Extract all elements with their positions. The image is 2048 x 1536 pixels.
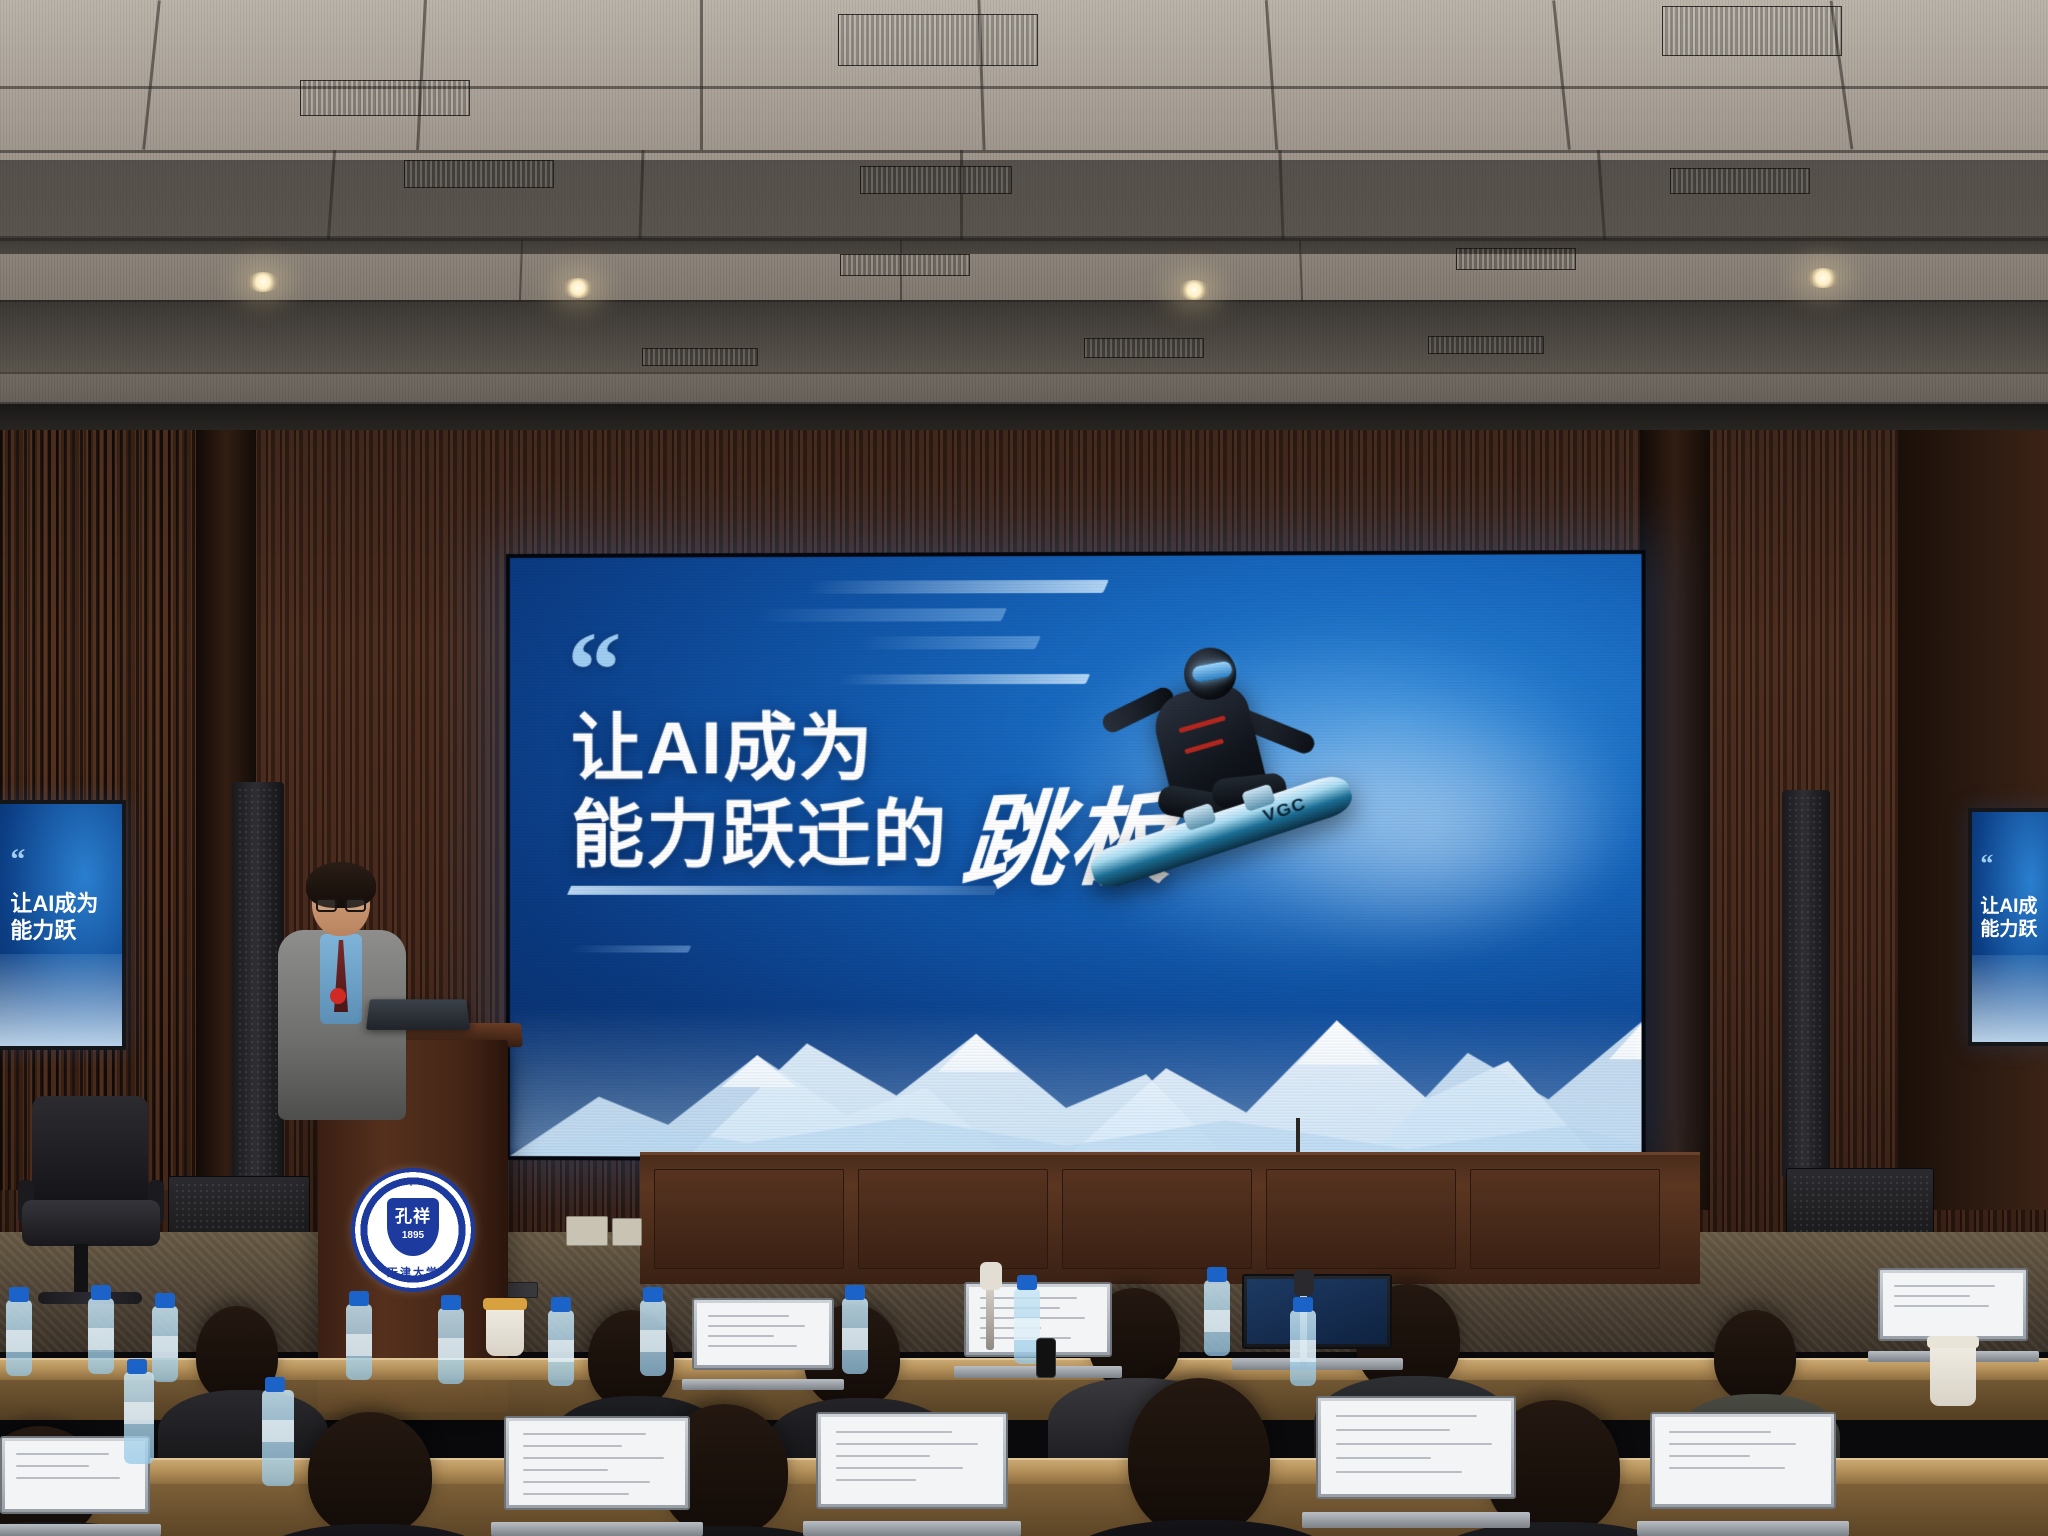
side-line-2: 能力跃 xyxy=(10,918,76,943)
snowboarder-illustration: VGC xyxy=(1066,625,1397,926)
audience-laptop[interactable] xyxy=(504,1416,690,1536)
water-bottle[interactable] xyxy=(640,1300,666,1376)
chair-back xyxy=(32,1096,148,1206)
laptop-screen xyxy=(821,1417,1003,1504)
decor-streak xyxy=(856,636,1041,649)
laptop-base xyxy=(0,1524,161,1536)
bottle-label xyxy=(346,1334,372,1356)
side-monitor-mountains xyxy=(1972,955,2048,1042)
ceiling-vent xyxy=(1428,336,1544,354)
bottle-cap xyxy=(1293,1297,1313,1312)
water-bottle[interactable] xyxy=(346,1304,372,1380)
ceiling-vent xyxy=(840,254,970,276)
bottle-label xyxy=(6,1330,32,1352)
decor-streak xyxy=(752,608,1007,622)
laptop-screen xyxy=(509,1421,685,1505)
water-bottle[interactable] xyxy=(124,1372,154,1464)
side-quote-icon: “ xyxy=(10,843,22,877)
ceiling-vent xyxy=(1456,248,1576,270)
quote-mark-icon: “ xyxy=(567,629,615,711)
laptop-base xyxy=(803,1521,1022,1536)
laptop-screen xyxy=(1321,1401,1511,1494)
audience-head xyxy=(308,1412,432,1536)
bottle-cap xyxy=(1017,1275,1037,1290)
main-led-screen: “ 让AI成为 能力跃迁的跳板 xyxy=(506,550,1646,1164)
bottle-cap xyxy=(91,1285,111,1300)
water-bottle[interactable] xyxy=(1290,1310,1316,1386)
presenter-badge xyxy=(330,988,346,1004)
audience-laptop[interactable] xyxy=(692,1298,834,1390)
laptop-base xyxy=(682,1379,844,1390)
bottle-cap xyxy=(9,1287,29,1302)
downlight xyxy=(246,272,280,292)
cup-lid xyxy=(1927,1336,1979,1348)
ceiling-vent xyxy=(1670,168,1810,194)
laptop-lid xyxy=(692,1298,834,1370)
decor-streak xyxy=(804,580,1109,594)
side-monitor-text: 让AI成 能力跃 xyxy=(1980,895,2037,941)
wall-outlet[interactable] xyxy=(566,1216,608,1246)
side-line-1: 让AI成 xyxy=(1980,896,2037,917)
side-monitor-mountains xyxy=(0,954,122,1046)
laptop-lid xyxy=(504,1416,690,1510)
audience-laptop[interactable] xyxy=(1650,1412,1836,1536)
laptop-screen xyxy=(1883,1273,2023,1336)
bottle-label xyxy=(842,1328,868,1350)
bottle-cap xyxy=(349,1291,369,1306)
ceiling-recess-band-2 xyxy=(0,300,2048,372)
laptop-screen xyxy=(1655,1417,1831,1504)
mountain-fog xyxy=(510,1007,1642,1160)
bottle-label xyxy=(152,1336,178,1358)
audience-laptop[interactable] xyxy=(816,1412,1008,1536)
microphone-head-icon xyxy=(1294,1270,1314,1296)
speaker-grill xyxy=(1787,795,1825,1173)
downlight xyxy=(562,278,594,298)
ceiling-vent xyxy=(300,80,470,116)
bottle-cap xyxy=(845,1285,865,1300)
laptop-lid xyxy=(1650,1412,1836,1509)
ceiling-vent xyxy=(1662,6,1842,56)
side-monitor-text: 让AI成为 能力跃 xyxy=(10,891,98,945)
side-line-2: 能力跃 xyxy=(1980,919,2037,940)
bottle-label xyxy=(640,1330,666,1352)
bottle-label xyxy=(1204,1310,1230,1332)
presenter-laptop[interactable] xyxy=(366,999,470,1030)
laptop-lid xyxy=(1878,1268,2028,1341)
downlight xyxy=(1806,268,1840,288)
ceiling-vent xyxy=(642,348,758,366)
ceiling-joint-band xyxy=(0,236,2048,254)
chair-seat xyxy=(22,1200,160,1246)
emblem-shield-characters: 孔祥 xyxy=(387,1208,439,1227)
water-bottle[interactable] xyxy=(1204,1280,1230,1356)
emblem-shield: 孔祥 1895 xyxy=(387,1198,439,1256)
bottle-label xyxy=(124,1402,154,1424)
water-bottle[interactable] xyxy=(152,1306,178,1382)
glasses-icon xyxy=(316,898,366,912)
headline-underline xyxy=(567,886,998,895)
downlight xyxy=(1178,280,1210,300)
side-line-1: 让AI成为 xyxy=(10,891,98,916)
bottle-label xyxy=(1014,1318,1040,1340)
cup-lid xyxy=(483,1298,527,1310)
bottle-label xyxy=(88,1328,114,1350)
bottle-label xyxy=(548,1340,574,1362)
laptop-screen xyxy=(697,1303,829,1365)
bottle-cap xyxy=(441,1295,461,1310)
pa-speaker-tower-right xyxy=(1782,790,1830,1178)
laptop-screen xyxy=(1247,1279,1387,1344)
microphone-stand[interactable] xyxy=(986,1284,994,1350)
laptop-base xyxy=(491,1522,703,1536)
audience-area xyxy=(0,1250,2048,1536)
bottle-cap xyxy=(127,1359,147,1374)
bottle-cap xyxy=(155,1293,175,1308)
water-bottle[interactable] xyxy=(842,1298,868,1374)
side-monitor-left: “ 让AI成为 能力跃 xyxy=(0,800,126,1050)
ceiling-vent xyxy=(838,14,1038,66)
decor-streak xyxy=(837,674,1091,685)
side-quote-icon: “ xyxy=(1980,849,1990,879)
beverage-cup[interactable] xyxy=(486,1306,524,1356)
wall-column-right xyxy=(1640,430,1710,1210)
bottle-cap xyxy=(1207,1267,1227,1282)
audience-head xyxy=(1714,1310,1796,1402)
side-monitor-right: “ 让AI成 能力跃 xyxy=(1968,808,2048,1046)
water-bottle[interactable] xyxy=(548,1310,574,1386)
water-bottle[interactable] xyxy=(88,1298,114,1374)
wall-outlet[interactable] xyxy=(612,1218,642,1246)
headline-line-2: 能力跃迁的 xyxy=(571,793,948,876)
bottle-label xyxy=(262,1420,294,1442)
audience-laptop[interactable] xyxy=(1242,1274,1392,1370)
laptop-base xyxy=(1232,1358,1403,1370)
bottle-label xyxy=(1290,1340,1316,1362)
ceiling-vent xyxy=(1084,338,1204,358)
bottle-cap xyxy=(265,1377,285,1392)
microphone-head-icon xyxy=(980,1262,1002,1290)
side-monitor-left-screen: “ 让AI成为 能力跃 xyxy=(0,804,122,1046)
presenter xyxy=(268,868,418,1118)
ceiling-vent xyxy=(404,160,554,188)
laptop-base xyxy=(1302,1512,1530,1528)
laptop-base xyxy=(1637,1521,1849,1536)
bottle-cap xyxy=(643,1287,663,1302)
laptop-lid xyxy=(1316,1396,1516,1499)
headline-line-1: 让AI成为 xyxy=(571,706,874,789)
lecture-hall-scene: “ 让AI成为 能力跃迁的跳板 xyxy=(0,0,2048,1536)
bottle-label xyxy=(438,1338,464,1360)
slide-content: “ 让AI成为 能力跃迁的跳板 xyxy=(510,554,1642,1160)
ceiling-vent xyxy=(860,166,1012,194)
laptop-lid xyxy=(816,1412,1008,1509)
smartphone[interactable] xyxy=(1036,1338,1056,1378)
audience-head xyxy=(1128,1378,1270,1536)
emblem-year: 1895 xyxy=(387,1230,439,1241)
bottle-cap xyxy=(551,1297,571,1312)
audience-laptop[interactable] xyxy=(1316,1396,1516,1528)
water-bottle[interactable] xyxy=(6,1300,32,1376)
laptop-lid xyxy=(1242,1274,1392,1349)
side-monitor-right-screen: “ 让AI成 能力跃 xyxy=(1972,812,2048,1042)
water-bottle[interactable] xyxy=(262,1390,294,1486)
coffee-cup[interactable] xyxy=(1930,1344,1976,1406)
water-bottle[interactable] xyxy=(438,1308,464,1384)
